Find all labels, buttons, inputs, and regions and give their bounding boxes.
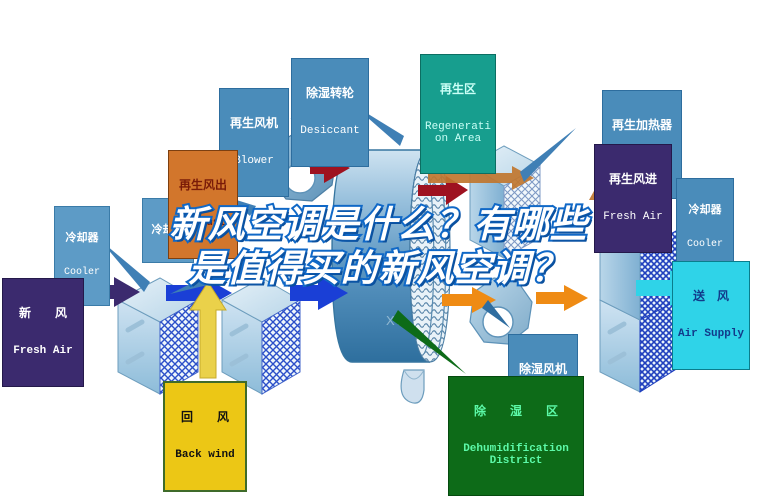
label-regeneration-area[interactable]: 再生区 Regenerati on Area [420, 54, 496, 174]
label-back-wind-cn: 回 风 [168, 411, 242, 424]
label-regen-fresh-air-in[interactable]: 再生风进 Fresh Air [594, 144, 672, 253]
label-cooler-right-en: Cooler [680, 240, 730, 251]
label-regen-heater-cn: 再生加热器 [606, 119, 678, 132]
label-fresh-air-in-cn: 新 风 [6, 307, 80, 320]
label-desiccant-wheel[interactable]: 除湿转轮 Desiccant [291, 58, 369, 167]
label-cooler-left-cn: 冷却器 [58, 233, 106, 245]
label-fresh-air-in-en: Fresh Air [6, 346, 80, 358]
label-air-supply[interactable]: 送 风 Air Supply [672, 261, 750, 370]
label-dehumidification-district-en: Dehumidification District [452, 444, 580, 468]
label-regen-fresh-air-in-en: Fresh Air [598, 212, 668, 224]
label-cooler-right-cn: 冷却器 [680, 205, 730, 217]
label-air-supply-cn: 送 风 [676, 290, 746, 303]
label-regen-exhaust[interactable]: 再生风出 Exhaust [168, 150, 238, 259]
label-desiccant-wheel-en: Desiccant [295, 126, 365, 138]
label-regeneration-area-cn: 再生区 [424, 83, 492, 96]
label-back-wind-en: Back wind [168, 450, 242, 462]
label-regen-fresh-air-in-cn: 再生风进 [598, 173, 668, 186]
label-fresh-air-in[interactable]: 新 风 Fresh Air [2, 278, 84, 387]
label-dehumid-blower-cn: 除湿风机 [512, 363, 574, 376]
label-regen-exhaust-cn: 再生风出 [172, 179, 234, 192]
label-back-wind[interactable]: 回 风 Back wind [163, 381, 247, 492]
condensate-drain-trough [401, 370, 424, 403]
label-regen-exhaust-en: Exhaust [172, 218, 234, 230]
label-air-supply-en: Air Supply [676, 329, 746, 341]
label-dehumidification-district-cn: 除 湿 区 [452, 405, 580, 418]
dry-air-arrow-2 [536, 285, 588, 311]
label-regeneration-area-en: Regenerati on Area [424, 122, 492, 146]
label-desiccant-wheel-cn: 除湿转轮 [295, 87, 365, 100]
diagram-canvas: XT [0, 0, 757, 488]
label-regen-blower-cn: 再生风机 [223, 117, 285, 130]
label-dehumidification-district[interactable]: 除 湿 区 Dehumidification District [448, 376, 584, 496]
cooler-coil-middle [222, 278, 300, 394]
